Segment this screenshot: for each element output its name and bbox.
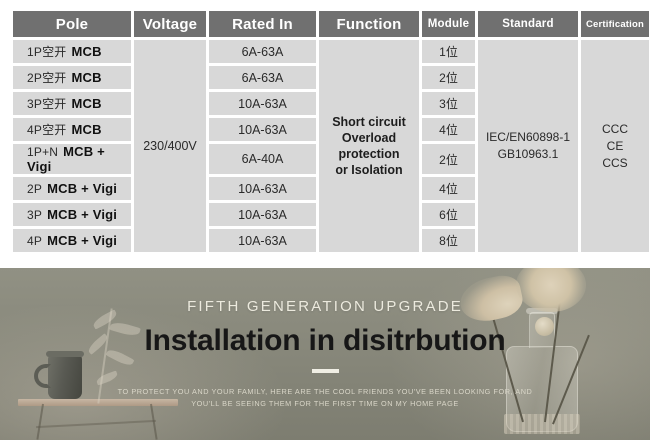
banner-subcopy-line-2: YOU'LL BE SEEING THEM FOR THE FIRST TIME…	[118, 398, 533, 410]
column-header-module: Module	[422, 11, 475, 37]
cell-pole: 2P空开MCB	[13, 66, 131, 89]
banner-eyebrow-text: FIFTH GENERATION UPGRADE	[187, 298, 463, 315]
banner-headline: Installation in disitrbution	[144, 324, 505, 358]
banner-divider-rule	[312, 369, 339, 373]
column-header-voltage: Voltage	[134, 11, 206, 37]
cell-module: 2位	[422, 144, 475, 174]
column-header-standard: Standard	[478, 11, 578, 37]
cell-voltage: 230/400V	[134, 40, 206, 252]
cell-function: Short circuit Overload protection or Iso…	[319, 40, 419, 252]
cell-module: 4位	[422, 118, 475, 141]
cell-module: 2位	[422, 66, 475, 89]
cell-pole: 2PMCB + Vigi	[13, 177, 131, 200]
cell-rated-in: 6A-40A	[209, 144, 316, 174]
banner-text-block: FIFTH GENERATION UPGRADE Installation in…	[0, 268, 650, 440]
pole-number: 3P	[27, 97, 42, 111]
column-header-rated-in: Rated In	[209, 11, 316, 37]
pole-type: MCB	[71, 44, 101, 59]
column-header-certification: Certification	[581, 11, 649, 37]
pole-number: 3P	[27, 208, 42, 222]
cell-module: 6位	[422, 203, 475, 226]
cell-rated-in: 10A-63A	[209, 92, 316, 115]
cell-pole: 3PMCB + Vigi	[13, 203, 131, 226]
column-header-function: Function	[319, 11, 419, 37]
pole-chinese-label: 空开	[42, 97, 66, 111]
cell-rated-in: 10A-63A	[209, 203, 316, 226]
pole-type: MCB	[71, 122, 101, 137]
column-header-pole: Pole	[13, 11, 131, 37]
pole-number: 4P	[27, 234, 42, 248]
certification-line-1: CCC	[581, 121, 649, 138]
cell-pole: 3P空开MCB	[13, 92, 131, 115]
standard-line-1: IEC/EN60898-1	[478, 129, 578, 146]
cell-pole: 1P+NMCB + Vigi	[13, 144, 131, 174]
cell-module: 4位	[422, 177, 475, 200]
pole-type: MCB	[71, 70, 101, 85]
pole-number: 1P+N	[27, 145, 58, 159]
function-line-1: Short circuit	[319, 114, 419, 130]
cell-certification: CCC CE CCS	[581, 40, 649, 252]
cell-rated-in: 6A-63A	[209, 40, 316, 63]
banner-subcopy-line-1: TO PROTECT YOU AND YOUR FAMILY, HERE ARE…	[118, 386, 533, 398]
pole-number: 4P	[27, 123, 42, 137]
pole-chinese-label: 空开	[42, 71, 66, 85]
cell-standard: IEC/EN60898-1 GB10963.1	[478, 40, 578, 252]
cell-pole: 1P空开MCB	[13, 40, 131, 63]
pole-type: MCB + Vigi	[47, 181, 117, 196]
pole-type: MCB + Vigi	[47, 207, 117, 222]
pole-chinese-label: 空开	[42, 45, 66, 59]
cell-rated-in: 10A-63A	[209, 177, 316, 200]
cell-rated-in: 10A-63A	[209, 118, 316, 141]
pole-number: 1P	[27, 45, 42, 59]
table-row: 1P空开MCB 230/400V 6A-63A Short circuit Ov…	[13, 40, 649, 63]
pole-type: MCB	[71, 96, 101, 111]
pole-number: 2P	[27, 182, 42, 196]
cell-pole: 4PMCB + Vigi	[13, 229, 131, 252]
function-line-3: or Isolation	[319, 162, 419, 178]
specification-table-section: Pole Voltage Rated In Function Module St…	[0, 0, 650, 268]
banner-subcopy: TO PROTECT YOU AND YOUR FAMILY, HERE ARE…	[118, 386, 533, 410]
cell-rated-in: 6A-63A	[209, 66, 316, 89]
function-line-2: Overload protection	[319, 130, 419, 162]
standard-line-2: GB10963.1	[478, 146, 578, 163]
pole-number: 2P	[27, 71, 42, 85]
certification-line-2: CE	[581, 138, 649, 155]
certification-line-3: CCS	[581, 155, 649, 172]
cell-module: 3位	[422, 92, 475, 115]
specification-table: Pole Voltage Rated In Function Module St…	[10, 8, 650, 255]
cell-module: 1位	[422, 40, 475, 63]
pole-chinese-label: 空开	[42, 123, 66, 137]
cell-pole: 4P空开MCB	[13, 118, 131, 141]
cell-module: 8位	[422, 229, 475, 252]
table-header-row: Pole Voltage Rated In Function Module St…	[13, 11, 649, 37]
pole-type: MCB + Vigi	[47, 233, 117, 248]
cell-rated-in: 10A-63A	[209, 229, 316, 252]
promo-banner: FIFTH GENERATION UPGRADE Installation in…	[0, 268, 650, 440]
